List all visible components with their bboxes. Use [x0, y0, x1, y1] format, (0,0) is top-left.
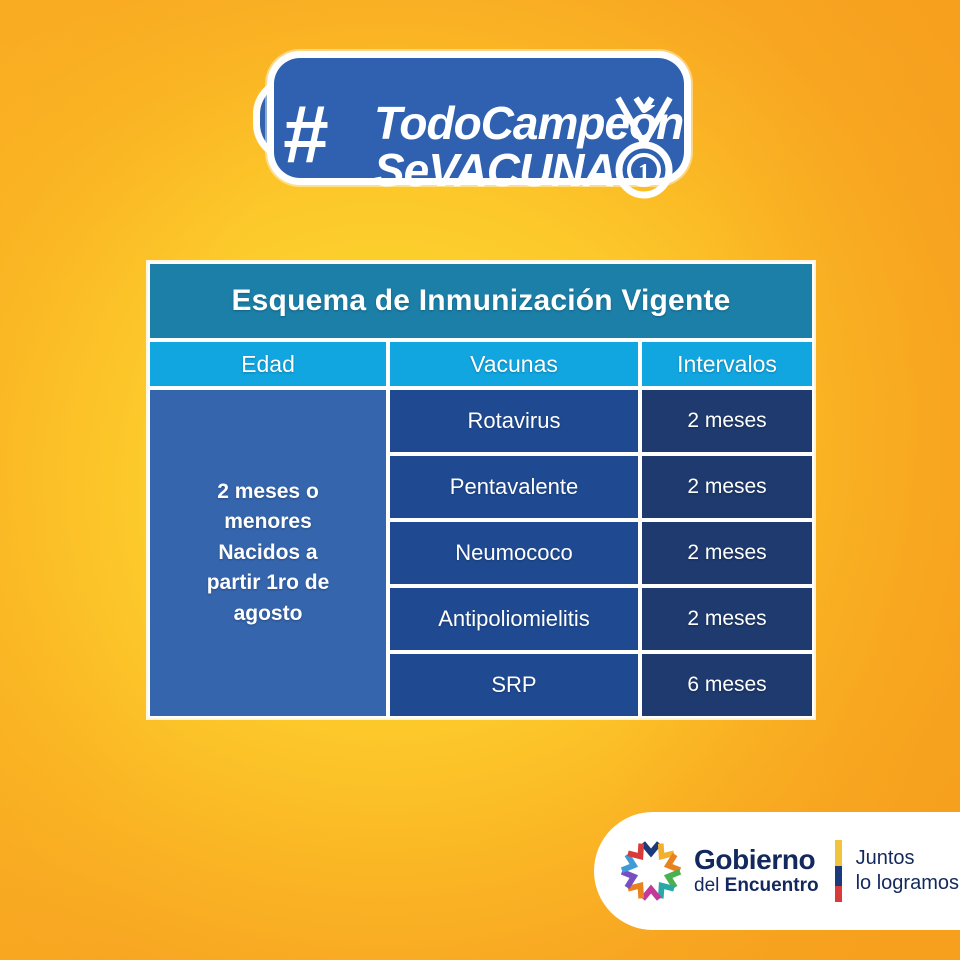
column-header-edad: Edad [148, 340, 388, 388]
chevron-burst-icon [610, 830, 692, 912]
vaccine-cell: Rotavirus [388, 388, 640, 454]
vaccine-cell: Antipoliomielitis [388, 586, 640, 652]
government-logo-card: Gobierno del Encuentro Juntos lo logramo… [594, 812, 960, 930]
age-group-cell: 2 meses o menores Nacidos a partir 1ro d… [148, 388, 388, 718]
interval-cell: 2 meses [640, 454, 814, 520]
vaccine-cell: Neumococo [388, 520, 640, 586]
age-line-5: agosto [160, 599, 376, 629]
gov-name-encuentro: Encuentro [725, 875, 819, 896]
interval-cell: 6 meses [640, 652, 814, 718]
medal-number: 1 [638, 160, 650, 186]
table-title: Esquema de Inmunización Vigente [148, 262, 814, 340]
slogan-line-1: Juntos [856, 846, 959, 871]
interval-cell: 2 meses [640, 586, 814, 652]
age-line-3: Nacidos a [160, 538, 376, 568]
immunization-schedule-table: Esquema de Inmunización Vigente Edad Vac… [148, 262, 814, 718]
government-name: Gobierno del Encuentro [694, 846, 819, 897]
gov-name-line-1: Gobierno [694, 846, 819, 874]
interval-cell: 2 meses [640, 520, 814, 586]
slogan-line-2: lo logramos [856, 871, 959, 896]
column-header-vacunas: Vacunas [388, 340, 640, 388]
table-row: 2 meses o menores Nacidos a partir 1ro d… [148, 388, 814, 454]
vaccine-cell: Pentavalente [388, 454, 640, 520]
interval-cell: 2 meses [640, 388, 814, 454]
gov-name-del: del [694, 875, 719, 896]
hashtag-symbol: # [282, 94, 328, 176]
table-title-row: Esquema de Inmunización Vigente [148, 262, 814, 340]
vaccine-cell: SRP [388, 652, 640, 718]
column-header-intervalos: Intervalos [640, 340, 814, 388]
age-line-2: menores [160, 507, 376, 537]
age-line-4: partir 1ro de [160, 568, 376, 598]
ecuador-flag-bar-icon [835, 840, 842, 902]
government-slogan: Juntos lo logramos [856, 846, 959, 896]
age-line-1: 2 meses o [160, 477, 376, 507]
table-header-row: Edad Vacunas Intervalos [148, 340, 814, 388]
gov-name-line-2: del Encuentro [694, 876, 819, 897]
medal-icon: 1 [596, 92, 692, 202]
